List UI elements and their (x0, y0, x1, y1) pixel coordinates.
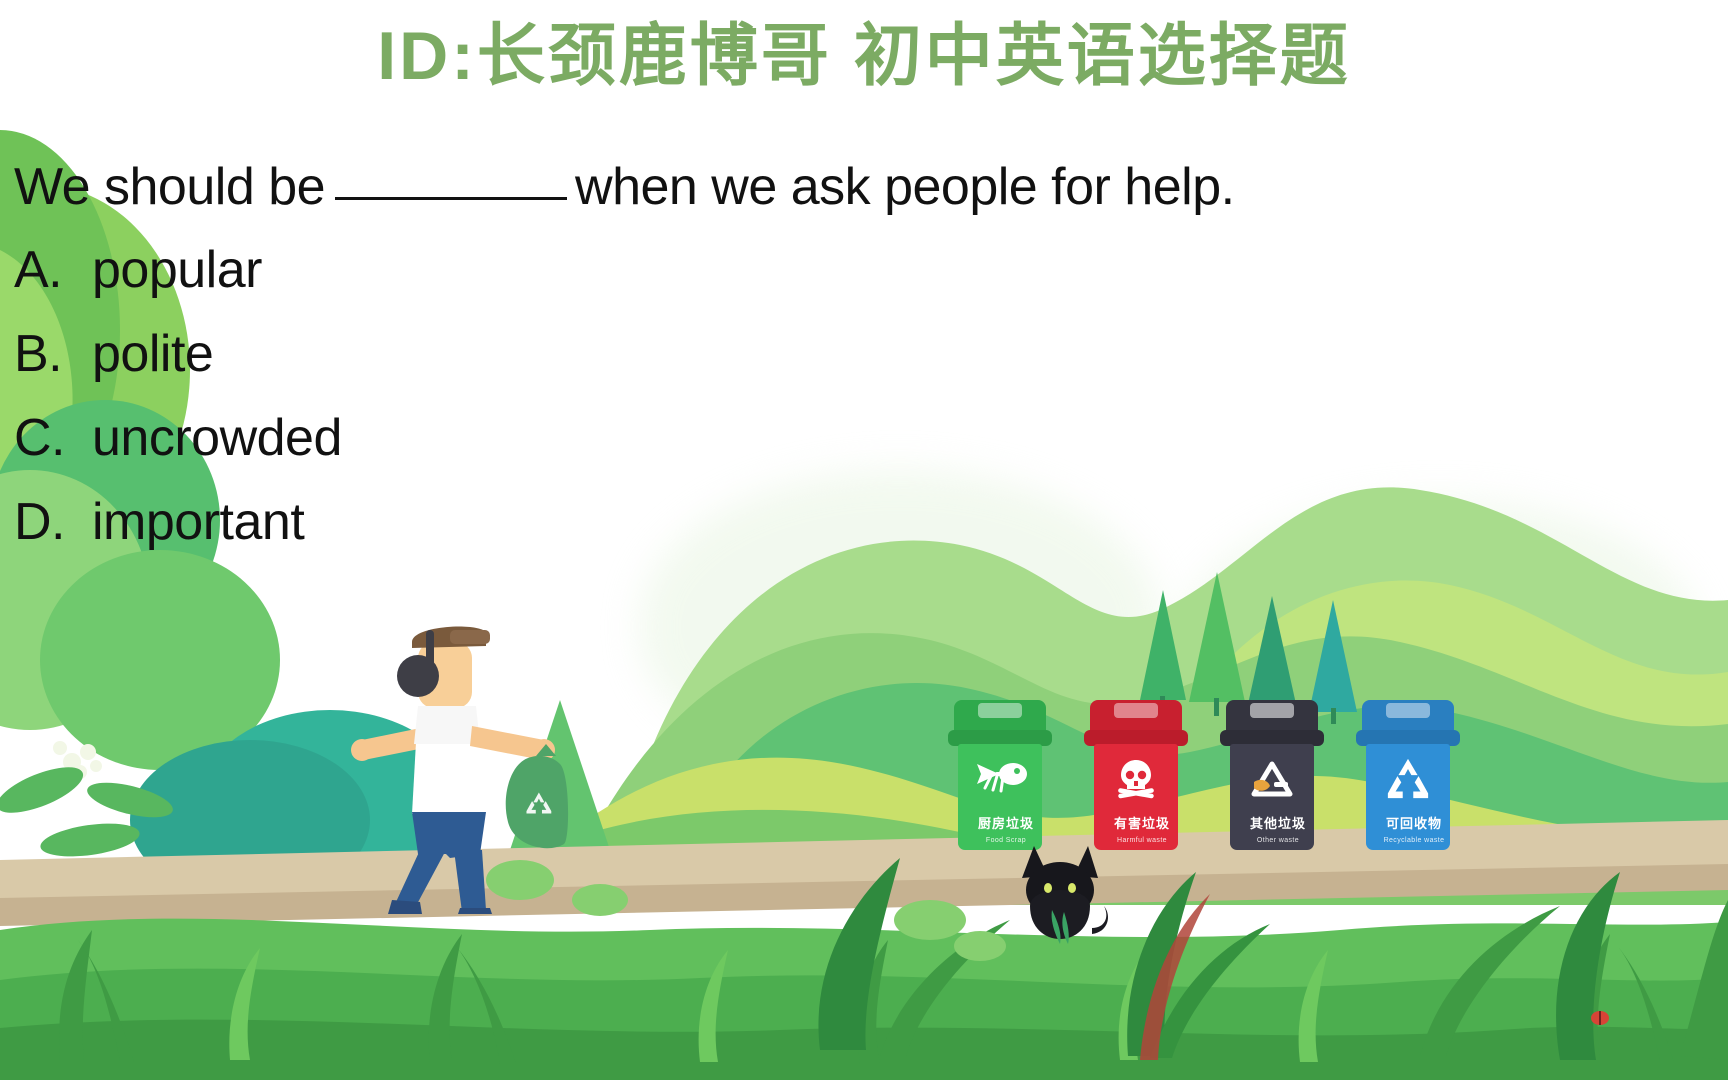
bin-label-cn: 有害垃圾 (1094, 813, 1190, 832)
option-c[interactable]: C.uncrowded (14, 408, 342, 468)
bin-label-en: Other waste (1230, 837, 1326, 844)
option-b-text: polite (92, 325, 213, 383)
bin-label-cn: 厨房垃圾 (958, 813, 1054, 832)
option-d[interactable]: D.important (14, 492, 304, 552)
bin-food-scrap: 厨房垃圾 Food Scrap (952, 700, 1048, 850)
question-stem: We should bewhen we ask people for help. (14, 157, 1235, 217)
bin-body: 其他垃圾 Other waste (1230, 744, 1314, 850)
ladybug (1591, 1011, 1609, 1025)
bin-other-waste: 其他垃圾 Other waste (1224, 700, 1320, 850)
option-c-letter: C. (14, 408, 92, 468)
header: ID:长颈鹿博哥 初中英语选择题 (0, 22, 1728, 90)
slide: 厨房垃圾 Food Scrap (0, 0, 1728, 1080)
option-a-letter: A. (14, 240, 92, 300)
other-waste-icon (1244, 758, 1300, 802)
bin-body: 厨房垃圾 Food Scrap (958, 744, 1042, 850)
bin-handle (978, 703, 1022, 718)
bin-recyclable-waste: 可回收物 Recyclable waste (1360, 700, 1456, 850)
answer-blank (335, 197, 567, 200)
option-a[interactable]: A.popular (14, 240, 262, 300)
fish-bone-icon (969, 758, 1031, 800)
question-before-blank: We should be (14, 158, 325, 216)
bin-handle (1250, 703, 1294, 718)
bin-label-cn: 可回收物 (1366, 813, 1462, 832)
trash-bag (506, 744, 568, 848)
recycle-icon (1383, 756, 1433, 802)
option-c-text: uncrowded (92, 409, 342, 467)
bin-body: 可回收物 Recyclable waste (1366, 744, 1450, 850)
bin-body: 有害垃圾 Harmful waste (1094, 744, 1178, 850)
bin-label-en: Recyclable waste (1366, 837, 1462, 844)
page-title: ID:长颈鹿博哥 初中英语选择题 (377, 22, 1351, 90)
option-d-letter: D. (14, 492, 92, 552)
bin-harmful-waste: 有害垃圾 Harmful waste (1088, 700, 1184, 850)
option-b-letter: B. (14, 324, 92, 384)
bin-label-cn: 其他垃圾 (1230, 813, 1326, 832)
option-b[interactable]: B.polite (14, 324, 213, 384)
question-after-blank: when we ask people for help. (575, 158, 1235, 216)
skull-crossbones-icon (1112, 758, 1160, 802)
option-a-text: popular (92, 241, 262, 299)
boy-carrying-trash-bag (300, 614, 570, 914)
option-d-text: important (92, 493, 304, 551)
black-cat (1000, 838, 1120, 958)
bin-handle (1386, 703, 1430, 718)
bin-handle (1114, 703, 1158, 718)
